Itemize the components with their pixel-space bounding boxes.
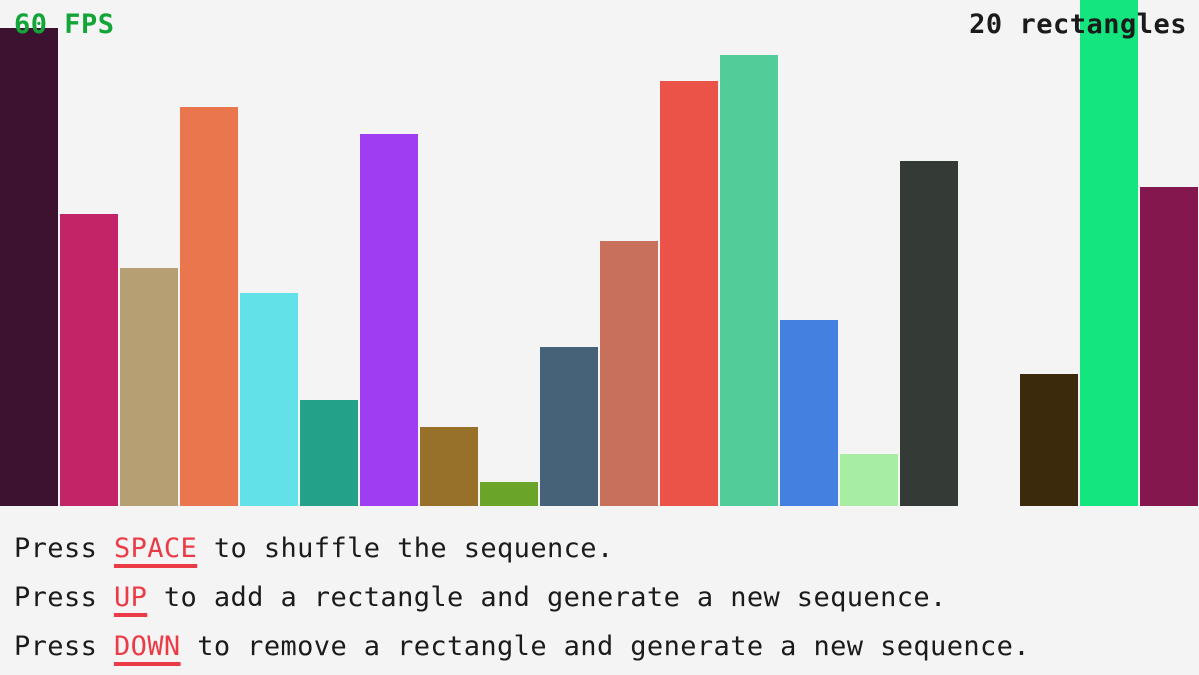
- rectangle-count-label: 20 rectangles: [969, 10, 1187, 40]
- bar-20: [1140, 187, 1198, 506]
- bar-1: [0, 28, 58, 506]
- bar-chart-canvas[interactable]: [0, 0, 1199, 506]
- bar-13: [720, 55, 778, 506]
- bar-15: [840, 454, 898, 506]
- bar-18: [1020, 374, 1078, 506]
- bar-19: [1080, 0, 1138, 506]
- bar-14: [780, 320, 838, 506]
- instruction-line-2: Press UP to add a rectangle and generate…: [14, 573, 1199, 622]
- bar-4: [180, 107, 238, 506]
- bar-12: [660, 81, 718, 506]
- instruction-prefix: Press: [14, 631, 114, 662]
- instruction-suffix: to add a rectangle and generate a new se…: [147, 582, 946, 613]
- key-down[interactable]: DOWN: [114, 631, 181, 662]
- bar-11: [600, 241, 658, 506]
- bar-2: [60, 214, 118, 506]
- fps-counter: 60 FPS: [14, 10, 115, 40]
- key-up[interactable]: UP: [114, 582, 147, 613]
- instruction-prefix: Press: [14, 533, 114, 564]
- bar-16: [900, 161, 958, 506]
- bar-3: [120, 268, 178, 506]
- key-space[interactable]: SPACE: [114, 533, 197, 564]
- instruction-line-3: Press DOWN to remove a rectangle and gen…: [14, 622, 1199, 671]
- bar-10: [540, 347, 598, 506]
- bar-8: [420, 427, 478, 506]
- instruction-suffix: to remove a rectangle and generate a new…: [181, 631, 1030, 662]
- instruction-suffix: to shuffle the sequence.: [197, 533, 613, 564]
- instructions-panel: Press SPACE to shuffle the sequence.Pres…: [0, 506, 1199, 675]
- bar-5: [240, 293, 298, 506]
- bar-7: [360, 134, 418, 506]
- bar-6: [300, 400, 358, 506]
- rectangle-demo-app: 60 FPS 20 rectangles Press SPACE to shuf…: [0, 0, 1199, 675]
- bar-9: [480, 482, 538, 506]
- instruction-prefix: Press: [14, 582, 114, 613]
- instruction-line-1: Press SPACE to shuffle the sequence.: [14, 524, 1199, 573]
